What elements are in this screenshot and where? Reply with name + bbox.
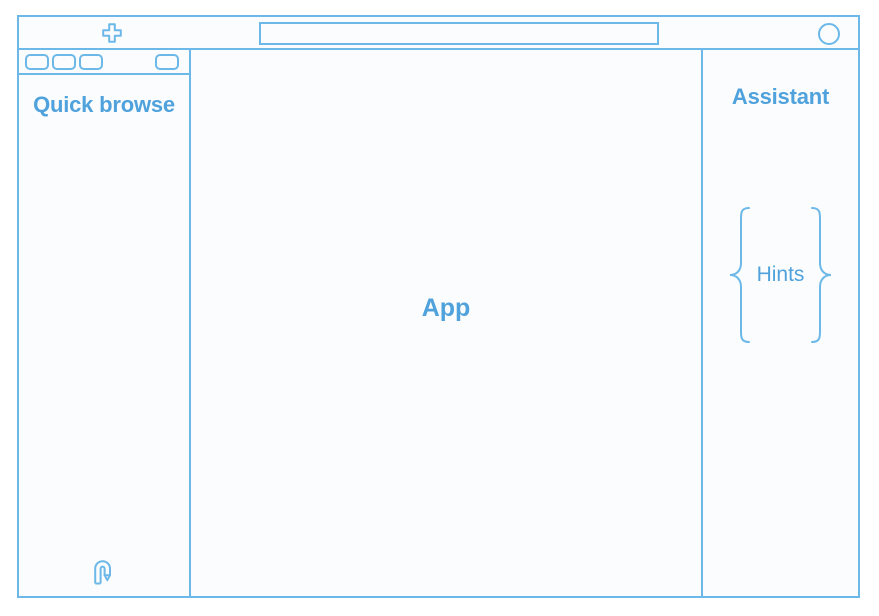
address-search-input[interactable] — [259, 22, 659, 45]
u-turn-back-icon[interactable] — [90, 556, 118, 586]
sidebar-chip-3[interactable] — [79, 54, 103, 70]
sidebar-chip-1[interactable] — [25, 54, 49, 70]
plus-icon — [101, 22, 123, 44]
sidebar-footer — [19, 556, 189, 586]
add-tab-button[interactable] — [97, 20, 127, 46]
curly-brace-right-icon — [808, 205, 834, 345]
hints-group: Hints — [703, 202, 858, 347]
hints-label: Hints — [757, 263, 805, 287]
app-panel-label: App — [422, 294, 471, 323]
circle-avatar-icon[interactable] — [818, 23, 840, 45]
assistant-heading: Assistant — [703, 84, 858, 110]
titlebar — [19, 17, 858, 50]
sidebar-quick-browse: Quick browse — [19, 50, 191, 596]
app-content-panel[interactable]: App — [191, 50, 703, 596]
assistant-panel: Assistant Hints — [703, 50, 858, 596]
sidebar-heading: Quick browse — [19, 91, 189, 120]
sidebar-toolbar — [19, 50, 189, 75]
browser-window-frame: Quick browse App Assistant — [17, 15, 860, 598]
panel-row: Quick browse App Assistant — [19, 50, 858, 596]
curly-brace-left-icon — [727, 205, 753, 345]
sidebar-chip-2[interactable] — [52, 54, 76, 70]
sidebar-chip-4[interactable] — [155, 54, 179, 70]
